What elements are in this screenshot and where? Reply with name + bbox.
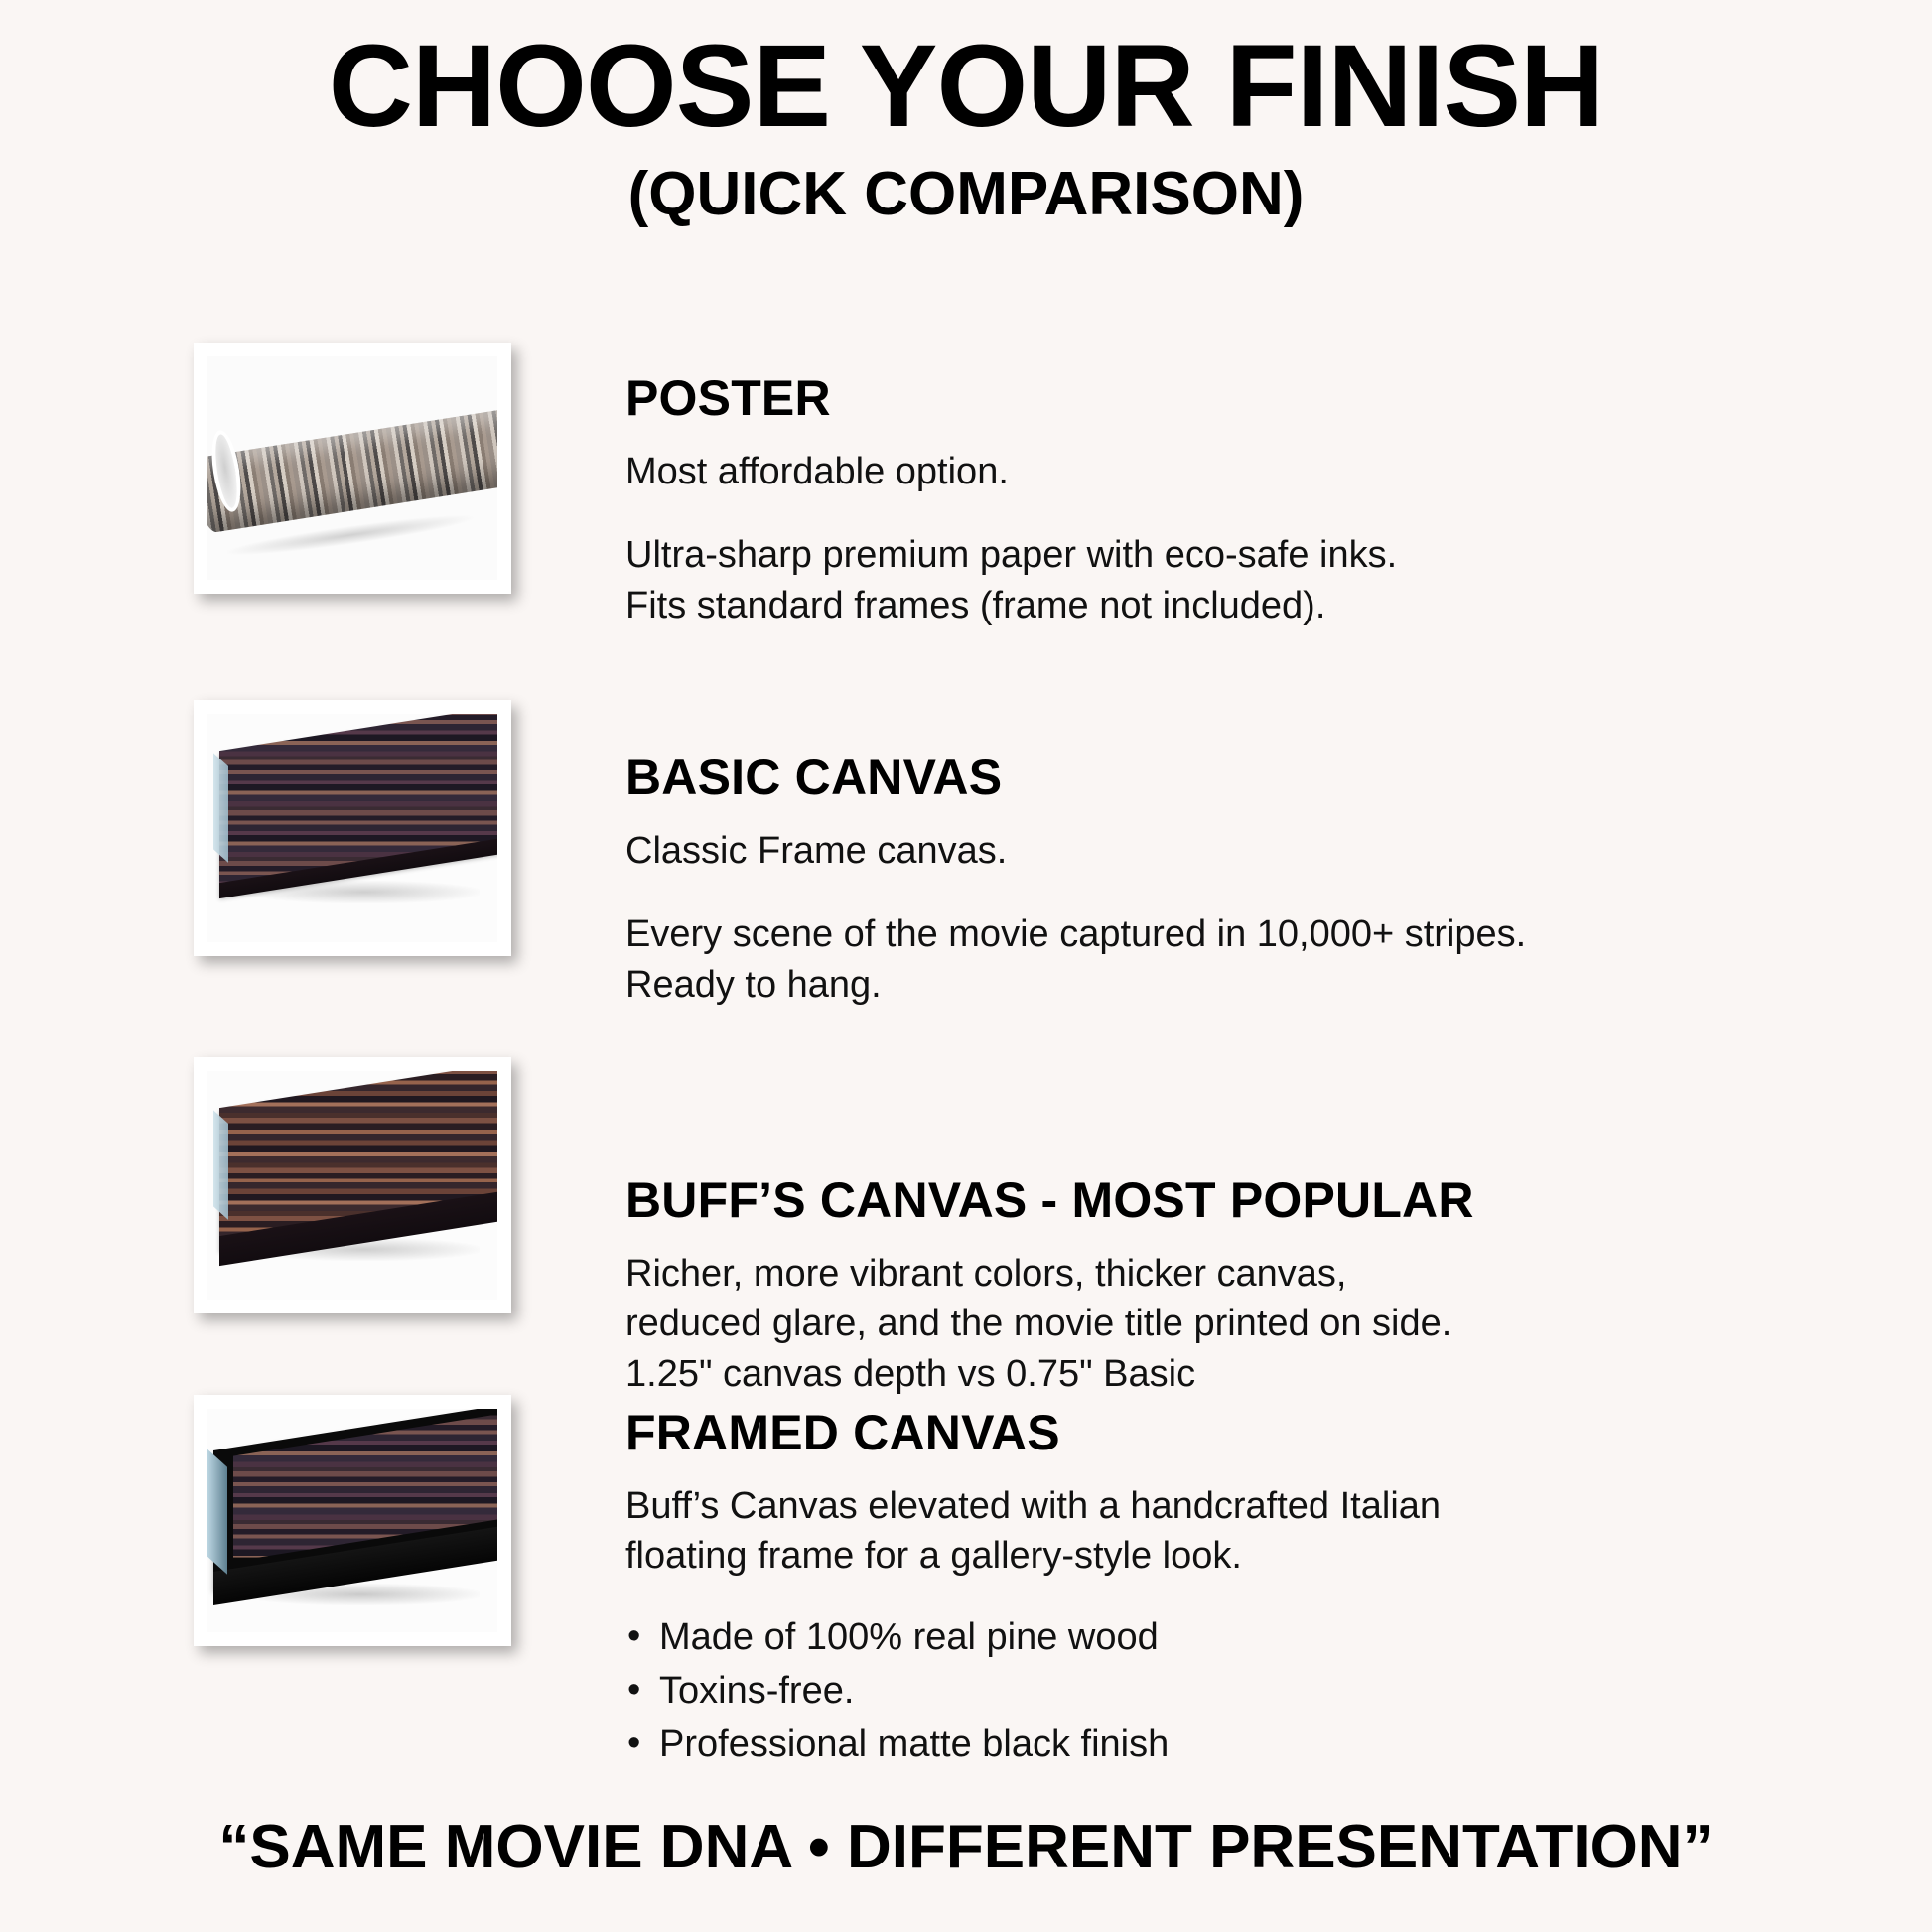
framed-canvas-description-line-1: Buff’s Canvas elevated with a handcrafte… (625, 1485, 1441, 1527)
finish-option-poster[interactable]: POSTER Most affordable option. Ultra-sha… (0, 343, 1932, 670)
basic-canvas-image (207, 714, 497, 942)
basic-canvas-description-line-2: Ready to hang. (625, 964, 882, 1006)
poster-description: Ultra-sharp premium paper with eco-safe … (625, 530, 1866, 631)
finish-option-framed-canvas[interactable]: FRAMED CANVAS Buff’s Canvas elevated wit… (0, 1395, 1932, 1723)
basic-canvas-lead: Classic Frame canvas. (625, 826, 1866, 876)
finish-option-basic-canvas[interactable]: BASIC CANVAS Classic Frame canvas. Every… (0, 700, 1932, 1028)
basic-canvas-description: Every scene of the movie captured in 10,… (625, 909, 1866, 1011)
page-footer: “SAME MOVIE DNA • DIFFERENT PRESENTATION… (0, 1812, 1932, 1882)
buffs-canvas-title: BUFF’S CANVAS - MOST POPULAR (625, 1174, 1866, 1227)
page-header: CHOOSE YOUR FINISH (QUICK COMPARISON) (0, 0, 1932, 228)
poster-description-line-2: Fits standard frames (frame not included… (625, 585, 1325, 626)
basic-canvas-text-column: BASIC CANVAS Classic Frame canvas. Every… (625, 752, 1866, 1010)
poster-thumbnail-card[interactable] (194, 343, 511, 594)
buffs-canvas-image (207, 1071, 497, 1300)
poster-image (207, 356, 497, 580)
buffs-canvas-description-line-2: reduced glare, and the movie title print… (625, 1303, 1451, 1344)
poster-text-column: POSTER Most affordable option. Ultra-sha… (625, 372, 1866, 630)
buffs-canvas-text-column: BUFF’S CANVAS - MOST POPULAR Richer, mor… (625, 1174, 1866, 1400)
buffs-canvas-description-line-3: 1.25" canvas depth vs 0.75" Basic (625, 1353, 1195, 1395)
basic-canvas-side-edge (213, 753, 228, 862)
page-title: CHOOSE YOUR FINISH (0, 26, 1932, 149)
buffs-canvas-side-edge (213, 1110, 228, 1219)
poster-lead: Most affordable option. (625, 447, 1866, 496)
page-subtitle: (QUICK COMPARISON) (0, 161, 1932, 228)
finish-option-buffs-canvas[interactable]: BUFF’S CANVAS - MOST POPULAR Richer, mor… (0, 1057, 1932, 1385)
list-item: Professional matte black finish (625, 1719, 1866, 1772)
framed-canvas-description-line-2: floating frame for a gallery-style look. (625, 1535, 1242, 1577)
poster-description-line-1: Ultra-sharp premium paper with eco-safe … (625, 534, 1397, 576)
framed-canvas-text-column: FRAMED CANVAS Buff’s Canvas elevated wit… (625, 1407, 1866, 1772)
framed-canvas-thumbnail-card[interactable] (194, 1395, 511, 1646)
framed-canvas-title: FRAMED CANVAS (625, 1407, 1866, 1459)
buffs-canvas-description: Richer, more vibrant colors, thicker can… (625, 1249, 1866, 1401)
framed-canvas-side-edge (207, 1449, 227, 1574)
basic-canvas-title: BASIC CANVAS (625, 752, 1866, 804)
framed-canvas-description: Buff’s Canvas elevated with a handcrafte… (625, 1481, 1866, 1583)
buffs-canvas-thumbnail-card[interactable] (194, 1057, 511, 1313)
framed-canvas-feature-list: Made of 100% real pine wood Toxins-free.… (625, 1611, 1866, 1772)
basic-canvas-description-line-1: Every scene of the movie captured in 10,… (625, 913, 1526, 955)
footer-tagline: “SAME MOVIE DNA • DIFFERENT PRESENTATION… (0, 1812, 1932, 1882)
basic-canvas-thumbnail-card[interactable] (194, 700, 511, 956)
poster-title: POSTER (625, 372, 1866, 425)
list-item: Toxins-free. (625, 1665, 1866, 1719)
list-item: Made of 100% real pine wood (625, 1611, 1866, 1665)
framed-canvas-image (207, 1409, 497, 1632)
buffs-canvas-description-line-1: Richer, more vibrant colors, thicker can… (625, 1253, 1347, 1295)
